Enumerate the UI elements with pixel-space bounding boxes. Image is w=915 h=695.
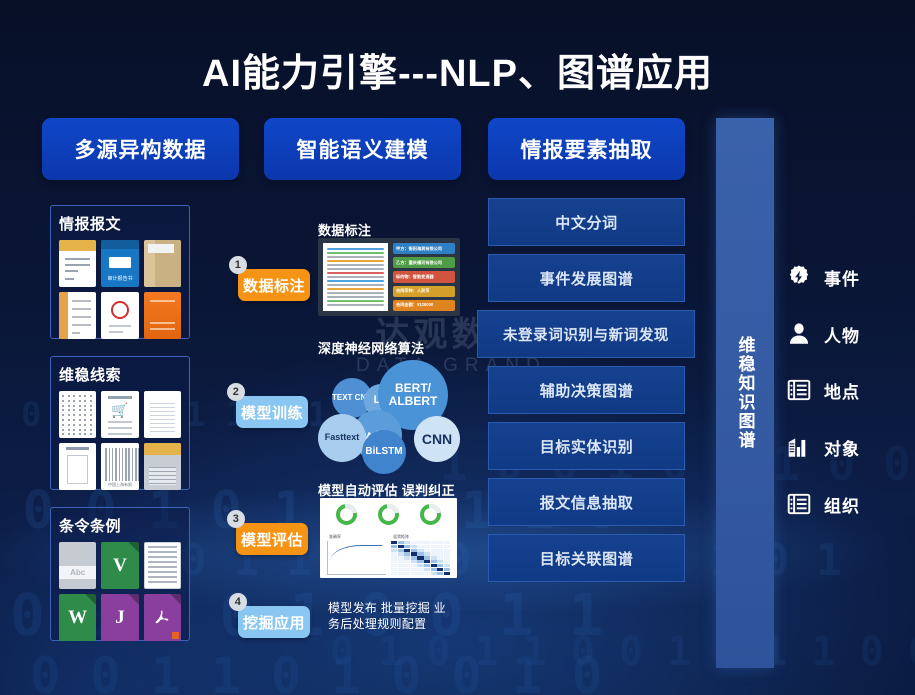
heatmap-cell <box>404 552 410 555</box>
heatmap-cell <box>404 541 410 544</box>
heatmap-cell <box>431 541 437 544</box>
heatmap-cell <box>404 572 410 575</box>
entity-label: 事件 <box>824 265 860 290</box>
heatmap-cell <box>444 549 450 552</box>
heatmap-cell <box>411 549 417 552</box>
heatmap-cell <box>391 568 397 571</box>
heatmap-cell <box>444 541 450 544</box>
extraction-item[interactable]: 目标关联图谱 <box>488 534 685 582</box>
document-thumbnail <box>59 240 96 287</box>
heatmap-cell <box>398 541 404 544</box>
heatmap-cell <box>398 556 404 559</box>
step-number: 3 <box>227 510 245 528</box>
heatmap-cell <box>437 549 443 552</box>
heatmap-cell <box>424 572 430 575</box>
heatmap-cell <box>411 568 417 571</box>
heatmap-cell <box>391 545 397 548</box>
algorithm-bubble: BiLSTM <box>362 430 406 474</box>
heatmap-cell <box>391 564 397 567</box>
document-thumbnail-grid: 🛒 中国上海有限 <box>59 391 181 490</box>
extraction-item[interactable]: 中文分词 <box>488 198 685 246</box>
lines-file-icon <box>144 542 181 589</box>
heatmap-cell <box>391 541 397 544</box>
heatmap-cell <box>444 568 450 571</box>
document-thumbnail-grid: 审计报告书 <box>59 240 181 339</box>
donut-chart <box>420 504 441 525</box>
heatmap-cell <box>404 549 410 552</box>
header-pill-multi-source-data[interactable]: 多源异构数据 <box>42 118 239 180</box>
heatmap-cell <box>417 549 423 552</box>
heatmap-cell <box>431 568 437 571</box>
heatmap-cell <box>417 556 423 559</box>
heatmap-cell <box>417 560 423 563</box>
heatmap-cell <box>398 549 404 552</box>
extraction-item[interactable]: 目标实体识别 <box>488 422 685 470</box>
document-thumbnail: 中国上海有限 <box>101 443 138 490</box>
heatmap-cell <box>391 572 397 575</box>
document-thumbnail <box>101 292 138 339</box>
heatmap-cell <box>431 564 437 567</box>
heatmap-cell <box>411 556 417 559</box>
source-card-caption: 条令条例 <box>59 515 181 536</box>
heatmap-cell <box>424 564 430 567</box>
heatmap-cell <box>411 545 417 548</box>
entity-row-organization[interactable]: 组织 <box>786 491 860 517</box>
heatmap-cell <box>411 552 417 555</box>
heatmap-cell <box>398 564 404 567</box>
algorithm-bubble-cloud: TEXT CNNLRBERT/ ALBERTw2vFasttextBiLSTMC… <box>316 358 466 470</box>
extracted-field-tag: 乙方：重庆横河有限公司 <box>393 257 455 268</box>
heatmap-cell <box>411 564 417 567</box>
document-thumbnail <box>144 292 181 339</box>
heatmap-cell <box>398 560 404 563</box>
heatmap-cell <box>398 545 404 548</box>
entity-row-person[interactable]: 人物 <box>786 321 860 347</box>
heatmap-cell <box>437 545 443 548</box>
document-thumbnail <box>144 443 181 490</box>
heatmap-cell <box>444 556 450 559</box>
heatmap-cell <box>431 572 437 575</box>
source-card-stability-clues[interactable]: 维稳线索 🛒 中国上海有限 <box>50 356 190 490</box>
heatmap-cell <box>411 541 417 544</box>
extraction-item[interactable]: 事件发展图谱 <box>488 254 685 302</box>
document-thumbnail <box>59 292 96 339</box>
heatmap-cell <box>431 560 437 563</box>
line-chart-label: 准确率 <box>329 534 386 540</box>
extracted-field-tag: 合同币种：人民币 <box>393 286 455 297</box>
slide-stage: AI能力引擎---NLP、图谱应用 多源异构数据 智能语义建模 情报要素抽取 情… <box>0 0 915 695</box>
document-thumbnail <box>144 240 181 287</box>
heatmap-cell <box>431 545 437 548</box>
heatmap-cell <box>431 556 437 559</box>
annotated-document-preview <box>323 243 388 311</box>
heatmap-cell <box>431 552 437 555</box>
document-thumbnail: 审计报告书 <box>101 240 138 287</box>
heatmap-cell <box>444 552 450 555</box>
entity-row-location[interactable]: 地点 <box>786 377 860 403</box>
heatmap-cell <box>404 560 410 563</box>
heatmap-cell <box>424 541 430 544</box>
file-icon-grid: Abc V W J <box>59 542 181 641</box>
source-card-caption: 情报报文 <box>59 213 181 234</box>
step-number: 4 <box>229 593 247 611</box>
heatmap-label: 混淆矩阵 <box>393 534 450 540</box>
heatmap-cell <box>444 564 450 567</box>
entity-label: 地点 <box>824 378 860 403</box>
heatmap-cell <box>391 552 397 555</box>
heatmap-cell <box>424 556 430 559</box>
entity-row-event[interactable]: 事件 <box>786 264 860 290</box>
heatmap-cell <box>424 545 430 548</box>
event-badge-icon <box>786 264 812 290</box>
algorithm-bubble: CNN <box>414 416 460 462</box>
step-label: 挖掘应用 <box>243 612 305 633</box>
heatmap-cell <box>404 556 410 559</box>
algorithm-caption: 深度神经网络算法 <box>318 338 424 357</box>
extracted-field-tag: 标的物：智能变速器 <box>393 271 455 282</box>
extraction-item[interactable]: 辅助决策图谱 <box>488 366 685 414</box>
heatmap-cell <box>417 572 423 575</box>
heatmap-cell <box>444 560 450 563</box>
heatmap-cell <box>437 541 443 544</box>
heatmap-cell <box>437 552 443 555</box>
confusion-matrix-heatmap <box>391 541 450 575</box>
entity-label: 组织 <box>824 492 860 517</box>
word-file-icon: W <box>59 594 96 641</box>
heatmap-cell <box>391 560 397 563</box>
heatmap-cell <box>417 545 423 548</box>
heatmap-cell <box>417 568 423 571</box>
list-icon <box>786 491 812 517</box>
header-pill-semantic-modeling[interactable]: 智能语义建模 <box>264 118 461 180</box>
heatmap-cell <box>417 541 423 544</box>
extraction-item[interactable]: 报文信息抽取 <box>488 478 685 526</box>
heatmap-cell <box>417 564 423 567</box>
heatmap-cell <box>437 568 443 571</box>
step-label: 模型训练 <box>241 402 303 423</box>
extracted-field-tags: 甲方：衡阳海润有限公司乙方：重庆横河有限公司标的物：智能变速器合同币种：人民币合… <box>393 243 455 311</box>
knowledge-graph-vertical-bar[interactable]: 维稳知识图谱 <box>716 118 774 668</box>
heatmap-cell <box>391 549 397 552</box>
pdf-file-icon <box>144 594 181 641</box>
document-thumbnail: 🛒 <box>101 391 138 438</box>
source-card-caption: 维稳线索 <box>59 364 181 385</box>
heatmap-cell <box>404 564 410 567</box>
annotation-screenshot-panel: 甲方：衡阳海润有限公司乙方：重庆横河有限公司标的物：智能变速器合同币种：人民币合… <box>318 238 460 316</box>
heatmap-cell <box>444 545 450 548</box>
donut-chart <box>378 504 399 525</box>
evaluation-screenshot-panel: 准确率 混淆矩阵 <box>320 498 457 578</box>
heatmap-cell <box>391 556 397 559</box>
donut-chart-group <box>325 504 452 525</box>
heatmap-cell <box>411 560 417 563</box>
entity-label: 对象 <box>824 435 860 460</box>
txt-file-icon: Abc <box>59 542 96 589</box>
json-file-icon: J <box>101 594 138 641</box>
page-title: AI能力引擎---NLP、图谱应用 <box>0 42 915 97</box>
step-badge-model-training[interactable]: 2 模型训练 <box>236 396 308 428</box>
source-card-intel-reports[interactable]: 情报报文 审计报告书 <box>50 205 190 339</box>
list-icon <box>786 377 812 403</box>
evaluation-caption: 模型自动评估 误判纠正 <box>318 480 455 499</box>
step-label: 模型评估 <box>241 529 303 550</box>
heatmap-cell <box>417 552 423 555</box>
person-icon <box>786 321 812 347</box>
document-thumbnail <box>59 443 96 490</box>
extracted-field-tag: 合同金额：¥125000 <box>393 300 455 311</box>
heatmap-cell <box>431 549 437 552</box>
heatmap-cell <box>398 568 404 571</box>
algorithm-bubble: Fasttext <box>318 414 366 462</box>
donut-chart <box>336 504 357 525</box>
heatmap-cell <box>424 549 430 552</box>
step-number: 2 <box>227 383 245 401</box>
heatmap-cell <box>404 568 410 571</box>
extracted-field-tag: 甲方：衡阳海润有限公司 <box>393 243 455 254</box>
document-thumbnail <box>144 391 181 438</box>
heatmap-cell <box>437 556 443 559</box>
entity-label: 人物 <box>824 322 860 347</box>
heatmap-cell <box>444 572 450 575</box>
heatmap-cell <box>437 564 443 567</box>
step-badge-data-annotation[interactable]: 1 数据标注 <box>238 269 310 301</box>
source-card-regulations[interactable]: 条令条例 Abc V W J <box>50 507 190 641</box>
step-badge-model-evaluation[interactable]: 3 模型评估 <box>236 523 308 555</box>
step-badge-mining-application[interactable]: 4 挖掘应用 <box>238 606 310 638</box>
heatmap-cell <box>398 572 404 575</box>
extraction-item[interactable]: 未登录词识别与新词发现 <box>477 310 695 358</box>
heatmap-cell <box>424 560 430 563</box>
document-thumbnail <box>59 391 96 438</box>
heatmap-cell <box>424 552 430 555</box>
header-pill-element-extraction[interactable]: 情报要素抽取 <box>488 118 685 180</box>
heatmap-cell <box>437 572 443 575</box>
annotation-caption: 数据标注 <box>318 220 371 239</box>
apply-description: 模型发布 批量挖掘 业务后处理规则配置 <box>328 600 448 632</box>
heatmap-cell <box>398 552 404 555</box>
building-chart-icon <box>786 434 812 460</box>
heatmap-cell <box>404 545 410 548</box>
heatmap-cell <box>437 560 443 563</box>
excel-file-icon: V <box>101 542 138 589</box>
accuracy-line-chart <box>327 541 386 575</box>
step-label: 数据标注 <box>243 275 305 296</box>
heatmap-cell <box>411 572 417 575</box>
entity-row-object[interactable]: 对象 <box>786 434 860 460</box>
heatmap-cell <box>424 568 430 571</box>
step-number: 1 <box>229 256 247 274</box>
